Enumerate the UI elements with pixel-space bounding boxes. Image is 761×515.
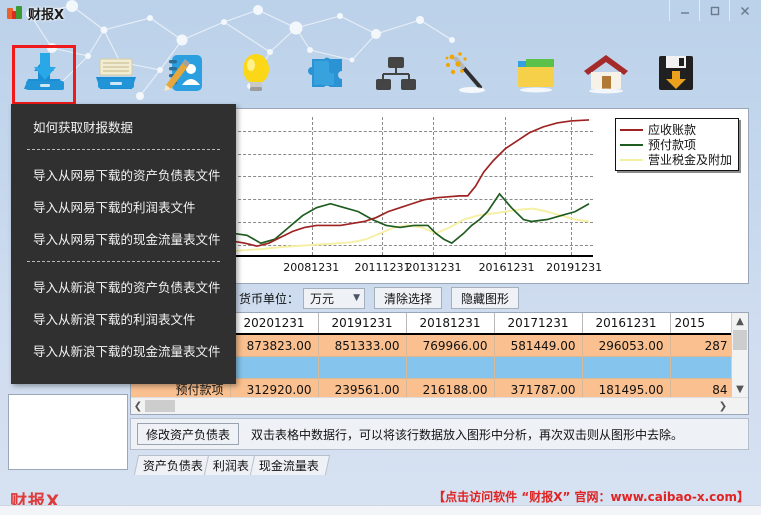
legend-swatch [620, 144, 643, 146]
menu-item-import-163-income-statement[interactable]: 导入从网易下载的利润表文件 [11, 190, 236, 222]
vscroll-thumb[interactable] [733, 330, 747, 350]
save-floppy-icon[interactable] [642, 40, 710, 106]
menu-separator [27, 149, 220, 151]
row-cell: 287 [670, 334, 734, 357]
menu-item-how-to-get-data[interactable]: 如何获取财报数据 [11, 110, 236, 142]
menu-item-import-163-cash-flow[interactable]: 导入从网易下载的现金流量表文件 [11, 222, 236, 254]
chart-x-tick-labels: 20081231 20111231 20131231 20161231 2019… [231, 261, 596, 277]
table-col-4[interactable]: 20161231 [582, 313, 670, 334]
menu-item-import-sina-cash-flow[interactable]: 导入从新浪下载的现金流量表文件 [11, 334, 236, 366]
magic-wand-icon[interactable] [432, 40, 500, 106]
row-cell: 851333.00 [318, 334, 406, 357]
legend-item: 应收账款 [620, 122, 732, 137]
hide-chart-button[interactable]: 隐藏图形 [451, 287, 519, 309]
title-bar: 财报X [0, 0, 761, 26]
legend-item: 预付款项 [620, 137, 732, 152]
menu-item-import-163-balance-sheet[interactable]: 导入从网易下载的资产负债表文件 [11, 158, 236, 190]
report-stack-icon[interactable] [82, 40, 150, 106]
edit-balance-sheet-button[interactable]: 修改资产负债表 [137, 423, 239, 445]
bar-chart-icon [7, 6, 23, 20]
table-col-3[interactable]: 20171231 [494, 313, 582, 334]
row-cell: 296053.00 [582, 334, 670, 357]
row-cell [582, 357, 670, 379]
table-col-0[interactable]: 20201231 [230, 313, 318, 334]
row-cell [406, 357, 494, 379]
chart-series-lines [233, 117, 593, 255]
legend-label: 营业税金及附加 [648, 151, 732, 168]
row-cell: 769966.00 [406, 334, 494, 357]
legend-swatch [620, 159, 643, 161]
table-col-5[interactable]: 2015 [670, 313, 734, 334]
currency-select[interactable]: 万元 ▼ [303, 288, 365, 309]
tab-cash-flow[interactable]: 现金流量表 [250, 455, 330, 475]
window-title: 财报X [28, 4, 64, 23]
tab-label: 资产负债表 [143, 457, 203, 474]
scroll-up-icon[interactable]: ▲ [732, 313, 748, 330]
menu-separator [27, 261, 220, 263]
chart-legend: 应收账款 预付款项 营业税金及附加 [615, 118, 739, 171]
table-vertical-scrollbar[interactable]: ▲ ▼ [731, 313, 748, 398]
clear-selection-button[interactable]: 清除选择 [374, 287, 442, 309]
menu-item-import-sina-balance-sheet[interactable]: 导入从新浪下载的资产负债表文件 [11, 270, 236, 302]
row-cell: 581449.00 [494, 334, 582, 357]
row-cell [670, 357, 734, 379]
row-cell [494, 357, 582, 379]
currency-label: 货币单位： [239, 290, 299, 307]
app-window: 财报X [0, 0, 761, 515]
lightbulb-icon[interactable] [222, 40, 290, 106]
window-controls [669, 0, 759, 21]
table-horizontal-scrollbar[interactable]: ❮ ❯ [131, 397, 748, 414]
official-site-link[interactable]: 【点击访问软件 “财报X” 官网：www.caibao-x.com】 [433, 488, 749, 505]
hint-bar: 修改资产负债表 双击表格中数据行，可以将该行数据放入图形中分析，再次双击则从图形… [130, 418, 749, 450]
menu-item-import-sina-income-statement[interactable]: 导入从新浪下载的利润表文件 [11, 302, 236, 334]
table-col-2[interactable]: 20181231 [406, 313, 494, 334]
tab-label: 现金流量表 [259, 457, 319, 474]
home-icon[interactable] [572, 40, 640, 106]
bottom-strip [0, 505, 761, 515]
scroll-right-icon[interactable]: ❯ [716, 401, 730, 412]
scroll-left-icon[interactable]: ❮ [131, 401, 145, 412]
toolbar-selection-highlight [12, 45, 76, 105]
puzzle-icon[interactable] [292, 40, 360, 106]
hint-text: 双击表格中数据行，可以将该行数据放入图形中分析，再次双击则从图形中去除。 [251, 426, 683, 443]
chart-plot-area[interactable] [231, 117, 593, 257]
tab-balance-sheet[interactable]: 资产负债表 [134, 455, 214, 475]
row-cell: 873823.00 [230, 334, 318, 357]
legend-swatch [620, 129, 643, 131]
close-button[interactable] [729, 0, 759, 21]
row-cell [318, 357, 406, 379]
maximize-button[interactable] [699, 0, 729, 21]
hscroll-thumb[interactable] [145, 400, 175, 412]
folder-icon[interactable] [502, 40, 570, 106]
tab-label: 利润表 [213, 457, 249, 474]
legend-item: 营业税金及附加 [620, 152, 732, 167]
chevron-down-icon: ▼ [353, 293, 360, 303]
edit-contact-icon[interactable] [152, 40, 220, 106]
table-col-1[interactable]: 20191231 [318, 313, 406, 334]
import-dropdown-menu[interactable]: 如何获取财报数据 导入从网易下载的资产负债表文件 导入从网易下载的利润表文件 导… [11, 104, 236, 384]
minimize-button[interactable] [669, 0, 699, 21]
left-info-panel [8, 394, 128, 470]
currency-select-value: 万元 [310, 290, 334, 307]
sheet-tabs: 资产负债表 利润表 现金流量表 [136, 455, 322, 475]
scroll-down-icon[interactable]: ▼ [732, 381, 748, 398]
org-chart-icon[interactable] [362, 40, 430, 106]
row-cell [230, 357, 318, 379]
toolbar [0, 40, 761, 108]
